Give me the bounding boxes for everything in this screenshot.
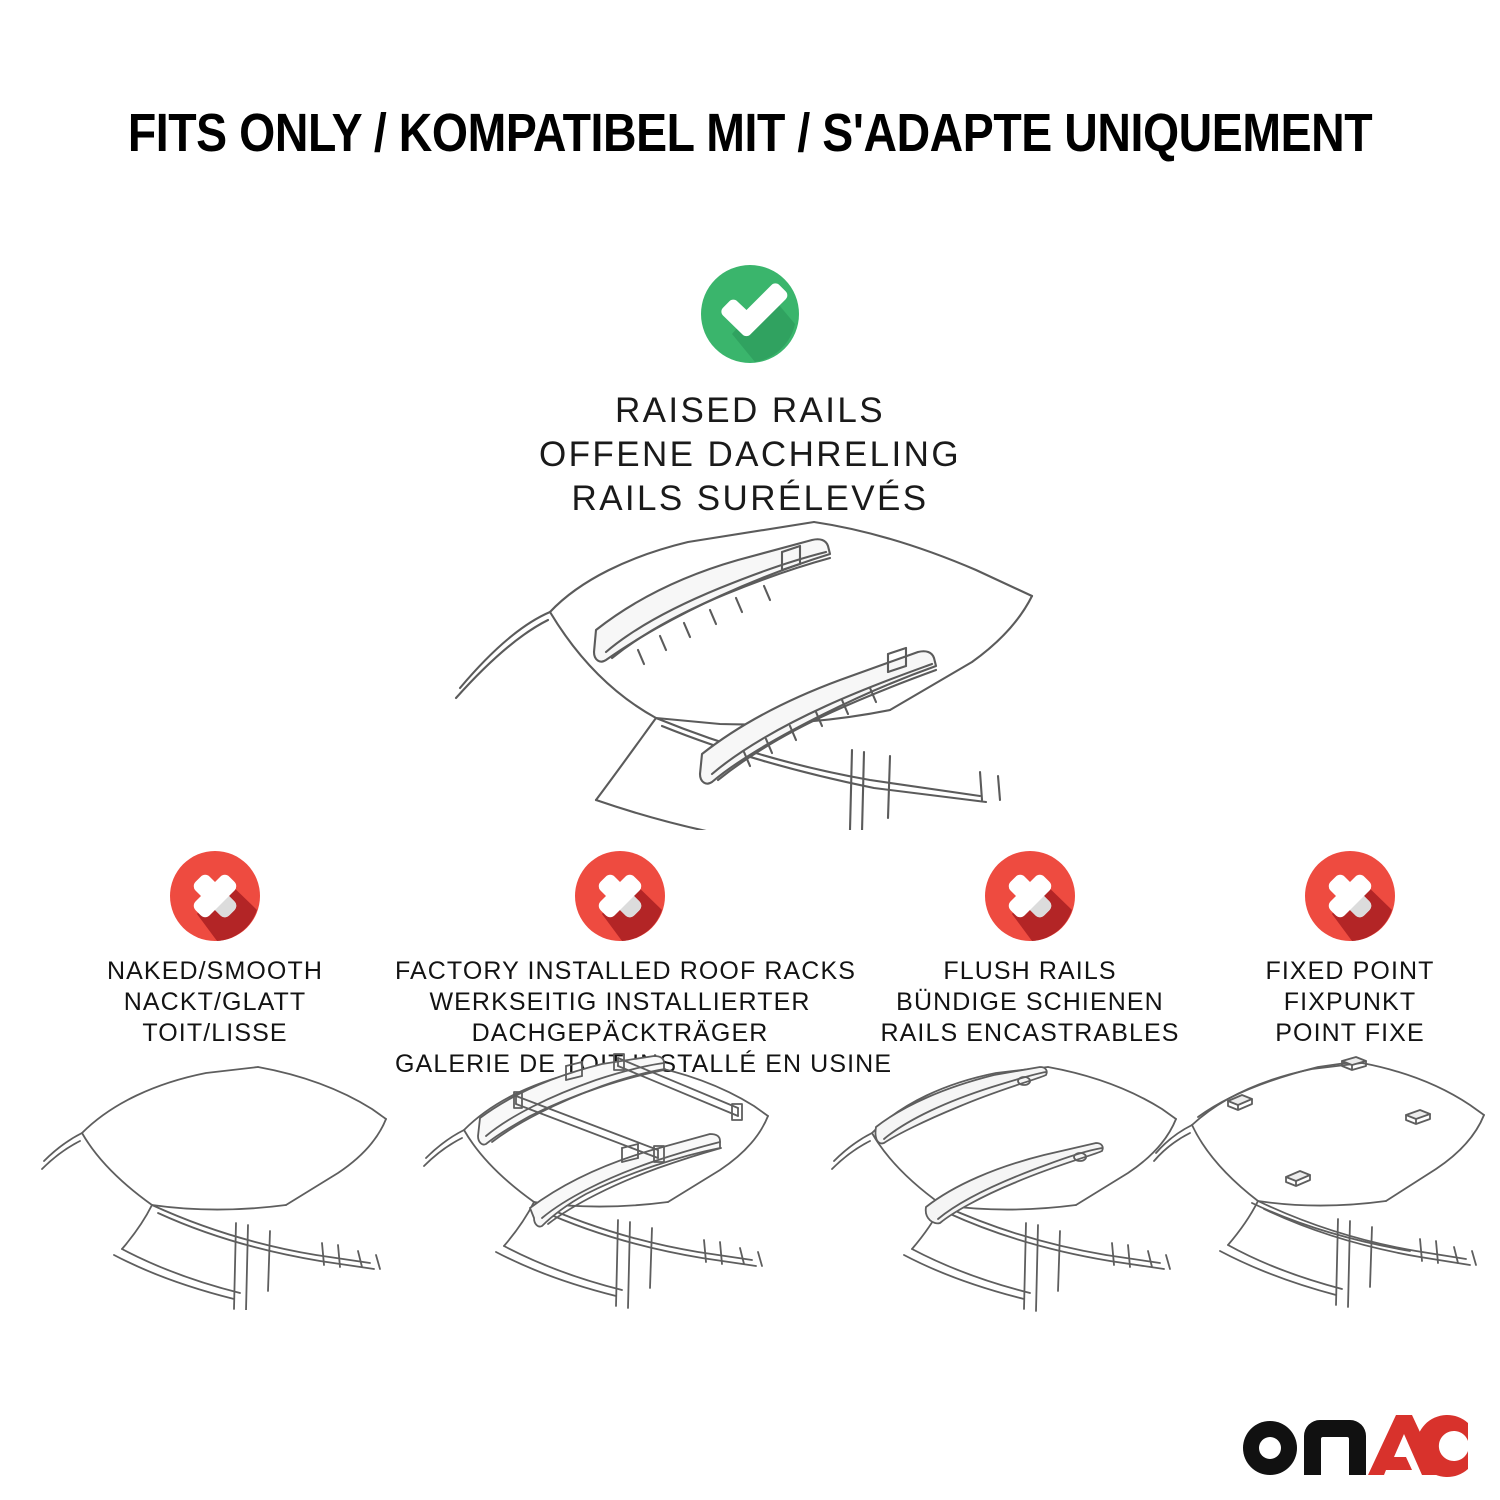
page-title: FITS ONLY / KOMPATIBEL MIT / S'ADAPTE UN…: [105, 103, 1395, 163]
label-fr: POINT FIXE: [1205, 1018, 1495, 1049]
fitment-infographic: FITS ONLY / KOMPATIBEL MIT / S'ADAPTE UN…: [0, 0, 1500, 1500]
label-fr: RAILS ENCASTRABLES: [880, 1018, 1180, 1049]
car-roof-fixed-point-illustration: [1152, 1055, 1500, 1310]
incompatible-labels: FLUSH RAILS BÜNDIGE SCHIENEN RAILS ENCAS…: [880, 956, 1180, 1049]
car-roof-raised-rails-illustration: [420, 500, 1100, 830]
incompatible-labels: FIXED POINT FIXPUNKT POINT FIXE: [1205, 956, 1495, 1049]
x-circle-icon: [982, 848, 1078, 944]
x-circle-icon: [167, 848, 263, 944]
incompatible-item-naked-smooth: NAKED/SMOOTH NACKT/GLATT TOIT/LISSE: [55, 848, 375, 1049]
check-circle-icon: [698, 262, 802, 366]
label-en: FACTORY INSTALLED ROOF RACKS: [395, 956, 845, 987]
label-de: WERKSEITIG INSTALLIERTER: [395, 987, 845, 1018]
car-roof-naked-smooth-illustration: [40, 1055, 420, 1310]
label-en: FLUSH RAILS: [880, 956, 1180, 987]
incompatible-item-factory-roof-racks: FACTORY INSTALLED ROOF RACKS WERKSEITIG …: [395, 848, 845, 1080]
incompatible-item-flush-rails: FLUSH RAILS BÜNDIGE SCHIENEN RAILS ENCAS…: [880, 848, 1180, 1049]
label-de: NACKT/GLATT: [55, 987, 375, 1018]
omac-logo: [1236, 1408, 1468, 1478]
incompatible-item-fixed-point: FIXED POINT FIXPUNKT POINT FIXE: [1205, 848, 1495, 1049]
compatible-label-en: RAISED RAILS: [0, 389, 1500, 433]
compatible-section: RAISED RAILS OFFENE DACHRELING RAILS SUR…: [0, 262, 1500, 521]
incompatible-labels: NAKED/SMOOTH NACKT/GLATT TOIT/LISSE: [55, 956, 375, 1049]
label-de-2: DACHGEPÄCKTRÄGER: [395, 1018, 845, 1049]
label-de: BÜNDIGE SCHIENEN: [880, 987, 1180, 1018]
compatible-label-de: OFFENE DACHRELING: [0, 433, 1500, 477]
x-circle-icon: [572, 848, 668, 944]
label-en: FIXED POINT: [1205, 956, 1495, 987]
label-fr: TOIT/LISSE: [55, 1018, 375, 1049]
label-en: NAKED/SMOOTH: [55, 956, 375, 987]
label-de: FIXPUNKT: [1205, 987, 1495, 1018]
x-circle-icon: [1302, 848, 1398, 944]
car-roof-factory-rack-illustration: [418, 1050, 810, 1312]
